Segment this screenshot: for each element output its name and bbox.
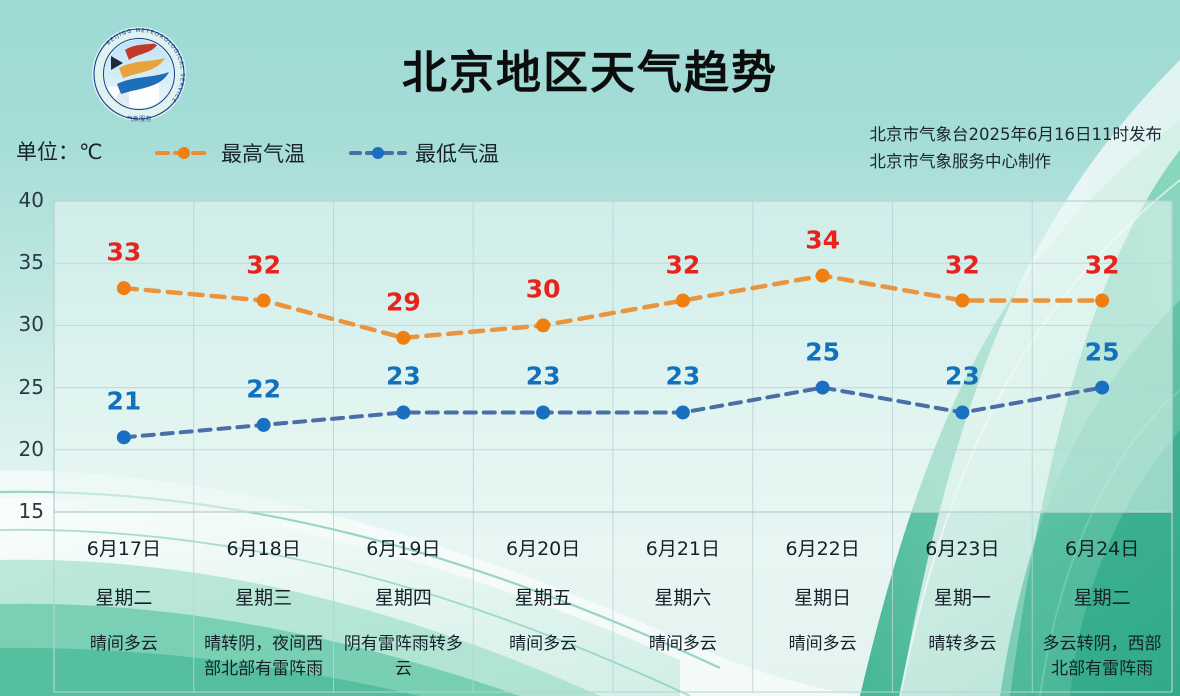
y-axis-tick: 15 <box>0 499 44 523</box>
data-point <box>955 294 969 308</box>
y-axis-tick: 35 <box>0 250 44 274</box>
day-condition: 晴转阴，夜间西部北部有雷阵雨 <box>200 632 328 681</box>
day-date: 6月21日 <box>619 534 747 561</box>
low-temp-label: 23 <box>526 362 561 391</box>
data-point <box>396 405 410 419</box>
high-temp-label: 32 <box>665 250 700 279</box>
day-condition: 阴有雷阵雨转多云 <box>340 632 468 681</box>
day-of-week: 星期六 <box>619 583 747 610</box>
day-column: 6月19日星期四阴有雷阵雨转多云 <box>334 516 474 692</box>
low-temp-label: 25 <box>1085 337 1120 366</box>
data-point <box>257 418 271 432</box>
data-point <box>117 430 131 444</box>
low-temp-label: 23 <box>665 362 700 391</box>
y-axis-tick: 20 <box>0 437 44 461</box>
low-temp-label: 23 <box>945 362 980 391</box>
high-temp-label: 32 <box>945 250 980 279</box>
low-temp-label: 23 <box>386 362 421 391</box>
data-point <box>536 318 550 332</box>
day-date: 6月17日 <box>60 534 188 561</box>
day-column: 6月22日星期日晴间多云 <box>753 516 893 692</box>
day-date: 6月22日 <box>759 534 887 561</box>
low-temp-label: 21 <box>106 387 141 416</box>
day-column: 6月17日星期二晴间多云 <box>54 516 194 692</box>
day-date: 6月23日 <box>899 534 1027 561</box>
data-point <box>536 405 550 419</box>
day-of-week: 星期五 <box>479 583 607 610</box>
data-point <box>955 405 969 419</box>
data-point <box>1095 381 1109 395</box>
day-condition: 晴间多云 <box>619 632 747 657</box>
high-temp-label: 33 <box>106 238 141 267</box>
high-temp-label: 30 <box>526 275 561 304</box>
data-point <box>257 294 271 308</box>
high-temp-label: 29 <box>386 287 421 316</box>
day-columns: 6月17日星期二晴间多云6月18日星期三晴转阴，夜间西部北部有雷阵雨6月19日星… <box>54 516 1172 692</box>
data-point <box>396 331 410 345</box>
high-temp-label: 34 <box>805 225 840 254</box>
day-date: 6月24日 <box>1038 534 1166 561</box>
day-date: 6月19日 <box>340 534 468 561</box>
day-condition: 晴间多云 <box>60 632 188 657</box>
data-point <box>816 381 830 395</box>
y-axis-tick: 25 <box>0 375 44 399</box>
data-point <box>676 294 690 308</box>
day-of-week: 星期二 <box>60 583 188 610</box>
high-temp-label: 32 <box>1085 250 1120 279</box>
day-date: 6月20日 <box>479 534 607 561</box>
data-point <box>676 405 690 419</box>
day-condition: 晴间多云 <box>479 632 607 657</box>
day-of-week: 星期二 <box>1038 583 1166 610</box>
day-of-week: 星期四 <box>340 583 468 610</box>
day-of-week: 星期三 <box>200 583 328 610</box>
day-column: 6月24日星期二多云转阴，西部北部有雷阵雨 <box>1032 516 1172 692</box>
y-axis-tick: 30 <box>0 312 44 336</box>
day-condition: 晴转多云 <box>899 632 1027 657</box>
high-temp-label: 32 <box>246 250 281 279</box>
day-column: 6月23日星期一晴转多云 <box>893 516 1033 692</box>
day-column: 6月21日星期六晴间多云 <box>613 516 753 692</box>
day-condition: 多云转阴，西部北部有雷阵雨 <box>1038 632 1166 681</box>
day-column: 6月20日星期五晴间多云 <box>473 516 613 692</box>
data-point <box>117 281 131 295</box>
day-of-week: 星期日 <box>759 583 887 610</box>
day-condition: 晴间多云 <box>759 632 887 657</box>
y-axis-tick: 40 <box>0 188 44 212</box>
data-point <box>1095 294 1109 308</box>
low-temp-label: 22 <box>246 374 281 403</box>
day-column: 6月18日星期三晴转阴，夜间西部北部有雷阵雨 <box>194 516 334 692</box>
low-temp-label: 25 <box>805 337 840 366</box>
day-of-week: 星期一 <box>899 583 1027 610</box>
data-point <box>816 269 830 283</box>
day-date: 6月18日 <box>200 534 328 561</box>
